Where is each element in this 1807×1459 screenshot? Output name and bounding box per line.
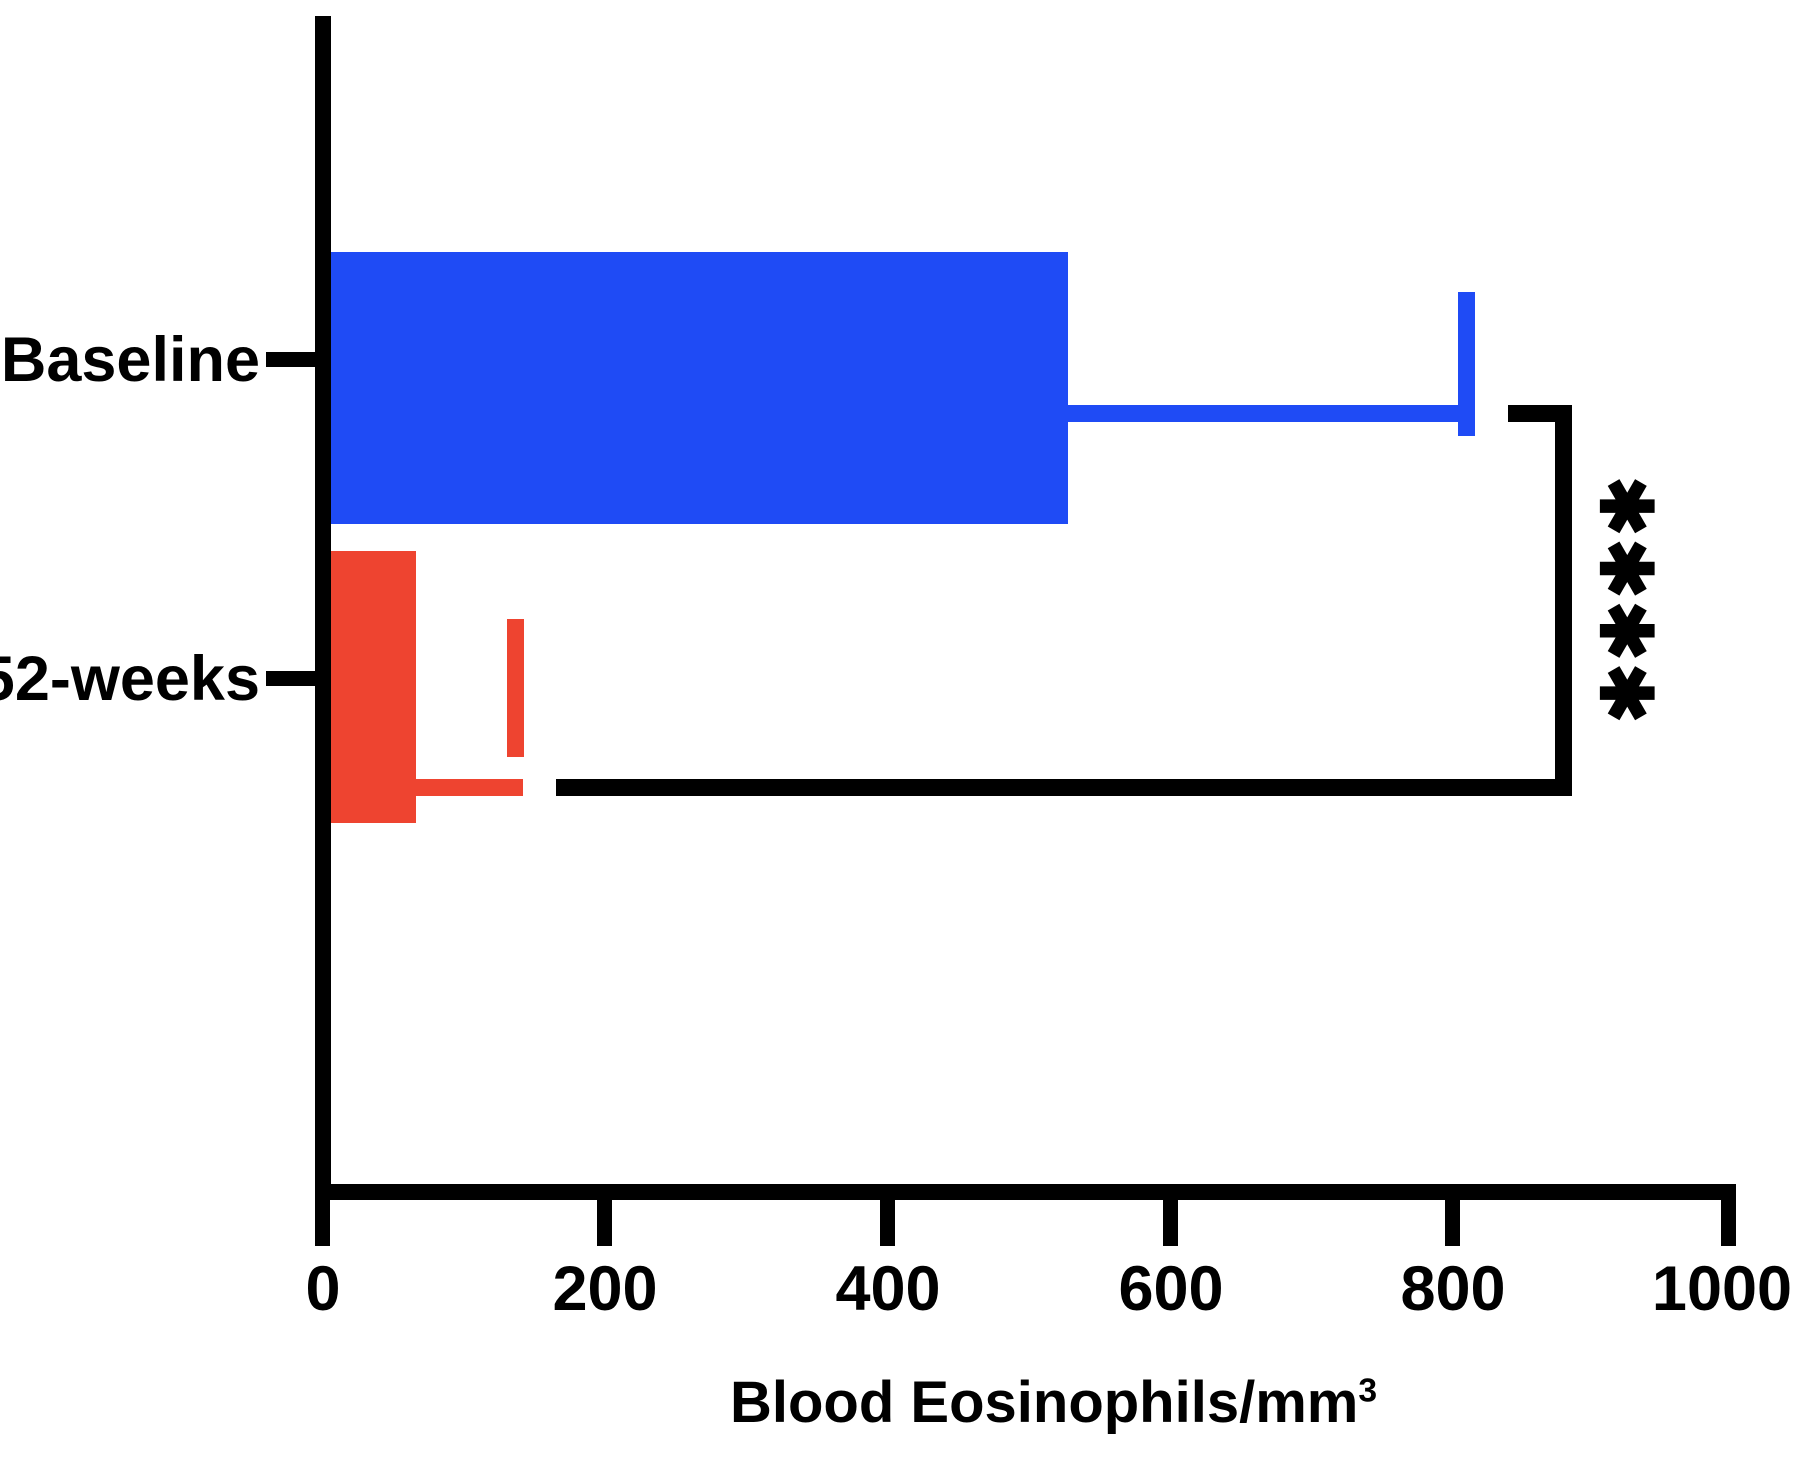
x-tick-mark-0 [315,1200,330,1246]
y-tick-mark-52weeks [266,671,315,686]
x-tick-mark-400 [880,1200,895,1246]
x-tick-label-600: 600 [1111,1258,1231,1321]
significance-bracket-spine [1555,405,1572,796]
x-tick-label-800: 800 [1393,1258,1513,1321]
error-bar-52weeks-line [416,779,523,796]
significance-bracket-bottom-arm [556,779,1572,796]
y-tick-label-52weeks: 52-weeks [0,648,260,711]
x-tick-label-1000: 1000 [1642,1258,1802,1321]
x-tick-mark-1000 [1721,1200,1736,1246]
chart-canvas: 0 200 400 600 800 1000 Baseline 52-weeks… [0,0,1807,1459]
x-tick-label-0: 0 [263,1258,383,1321]
y-tick-mark-baseline [266,352,315,367]
significance-stars: ✱✱✱✱ [1589,476,1661,706]
x-axis-line [315,1184,1736,1200]
error-bar-52weeks-cap [507,619,524,757]
error-bar-baseline-cap [1458,292,1475,436]
y-axis-line [315,16,331,1200]
error-bar-baseline-line [1068,405,1473,422]
bar-52weeks[interactable] [331,551,416,823]
x-axis-title-superscript: 3 [1358,1373,1377,1410]
x-tick-mark-600 [1163,1200,1178,1246]
bar-baseline[interactable] [331,252,1068,524]
x-tick-label-200: 200 [545,1258,665,1321]
x-axis-title-text: Blood Eosinophils/mm [730,1370,1358,1435]
x-tick-label-400: 400 [828,1258,948,1321]
y-tick-label-baseline: Baseline [0,329,260,392]
x-tick-mark-200 [597,1200,612,1246]
x-tick-mark-800 [1445,1200,1460,1246]
x-axis-title: Blood Eosinophils/mm3 [730,1374,1377,1432]
